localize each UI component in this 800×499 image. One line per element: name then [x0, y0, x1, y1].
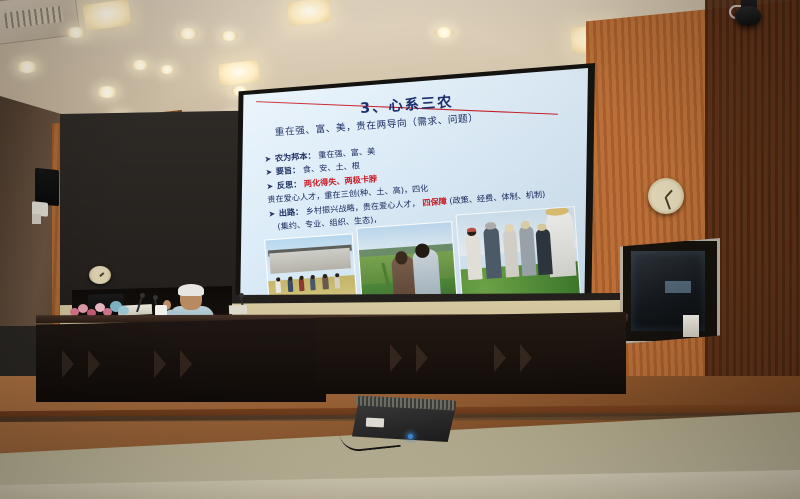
speaker-power-led [408, 434, 413, 439]
bullet-label: 要旨： [276, 166, 301, 177]
desk-name-card [229, 305, 247, 315]
stage-monitor-speaker [352, 396, 462, 448]
bullet-text: 重在强、富、美 [318, 147, 376, 160]
microphone-head [239, 293, 244, 298]
speaker-label [366, 418, 384, 428]
control-room-window [620, 238, 720, 344]
ceiling-panel-light [287, 0, 331, 26]
ceiling-downlight [178, 28, 198, 39]
ceiling-downlight [16, 61, 38, 73]
window-sill-object [683, 315, 699, 337]
bullet-marker: ➤ [268, 209, 275, 219]
photo-person-red-cap [467, 227, 477, 232]
microphone-head [140, 293, 145, 298]
flower-foliage [118, 306, 129, 315]
window-reflection [665, 281, 691, 293]
wall-clock [89, 266, 111, 284]
panel-chevron-ornament [62, 344, 148, 384]
display-mounting-bracket [32, 214, 41, 224]
right-wall-dark-wood-panel [705, 0, 800, 420]
ceiling-panel-light [218, 60, 260, 86]
clock-minute-hand [665, 197, 671, 210]
clock-hour-hand [99, 272, 104, 276]
slide-content: 3、心系三农 重在强、富、美，贵在两导向（需求、问题） ➤ 农为邦本： 重在强、… [240, 68, 588, 314]
ceiling-downlight [220, 31, 238, 41]
bullet-marker: ➤ [265, 168, 272, 178]
projector-body [735, 6, 761, 26]
head-table-front-right [316, 312, 626, 394]
head-table-front-left [36, 318, 326, 402]
bullet-label: 农为邦本： [275, 151, 316, 163]
bullet-text-tail: (政策、经费、体制、机制) [449, 189, 546, 205]
bullet-highlight: 两化得失、两极卡脖 [304, 174, 378, 188]
ceiling-downlight [159, 65, 175, 74]
panel-chevron-ornament [154, 344, 240, 384]
bullet-marker: ➤ [266, 181, 273, 191]
bullet-marker: ➤ [264, 154, 271, 164]
ceiling-downlight [66, 27, 86, 38]
ceiling-downlight [434, 27, 454, 38]
bullet-highlight: 四保障 [422, 196, 447, 207]
microphone-head [153, 295, 158, 300]
bullet-text: 食、安、土、根 [303, 162, 361, 175]
panel-chevron-ornament [390, 338, 476, 378]
ceiling-downlight [96, 86, 118, 98]
projection-screen[interactable]: 3、心系三农 重在强、富、美，贵在两导向（需求、问题） ➤ 农为邦本： 重在强、… [240, 68, 588, 314]
photo-person-head [323, 274, 327, 278]
wall-mounted-display [35, 168, 59, 207]
presenter-hair [178, 284, 204, 296]
panel-chevron-ornament [494, 338, 580, 378]
ceiling-downlight [131, 60, 149, 70]
auditorium-scene: 3、心系三农 重在强、富、美，贵在两导向（需求、问题） ➤ 农为邦本： 重在强、… [0, 0, 800, 499]
ceiling-projector [731, 4, 765, 30]
slide-photo [455, 206, 581, 304]
bullet-label: 出路： [278, 207, 303, 218]
wall-clock [648, 178, 684, 214]
bullet-label: 反思： [277, 179, 302, 190]
